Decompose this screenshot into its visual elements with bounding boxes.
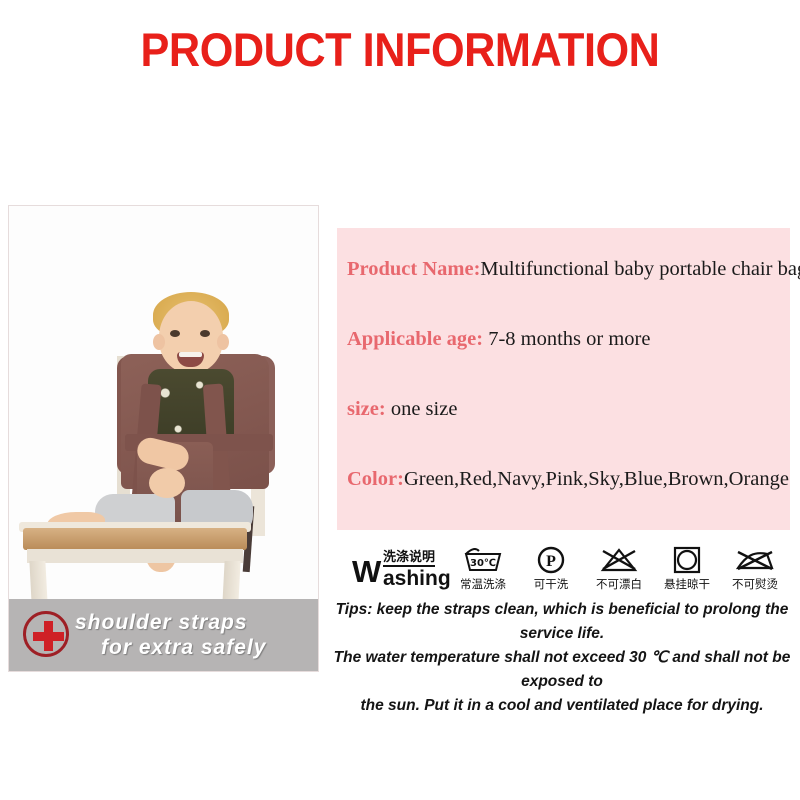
spec-value-applicable-age: 7-8 months or more bbox=[483, 328, 650, 350]
photo-caption-text: shoulder straps for extra safely bbox=[75, 610, 313, 660]
spec-row-applicable-age: Applicable age: 7-8 months or more bbox=[347, 327, 790, 351]
washing-logo-chinese: 洗涤说明 bbox=[383, 550, 435, 567]
spec-value-product-name: Multifunctional baby portable chair bag bbox=[480, 258, 800, 280]
photo-caption-line1: shoulder straps bbox=[75, 611, 248, 634]
baby-ear-left bbox=[153, 334, 165, 350]
tips-line-3: the sun. Put it in a cool and ventilated… bbox=[326, 694, 798, 718]
spec-label-size: size: bbox=[347, 398, 386, 420]
baby-eye-right bbox=[200, 330, 210, 337]
care-tips: Tips: keep the straps clean, which is be… bbox=[326, 598, 798, 718]
hang-dry-icon bbox=[654, 546, 720, 574]
chair-apron bbox=[27, 549, 243, 563]
baby-eye-left bbox=[170, 330, 180, 337]
cross-horizontal-bar bbox=[33, 632, 64, 641]
tips-line-1: Tips: keep the straps clean, which is be… bbox=[326, 598, 798, 646]
spec-value-color: Green,Red,Navy,Pink,Sky,Blue,Brown,Orang… bbox=[404, 468, 789, 490]
washing-logo-rest: ashing bbox=[383, 568, 451, 590]
care-caption-hang-dry: 悬挂晾干 bbox=[654, 576, 720, 592]
baby-ear-right bbox=[217, 334, 229, 350]
care-caption-wash-30c: 常温洗涤 bbox=[450, 576, 516, 592]
photo-caption-line2: for extra safely bbox=[75, 635, 313, 660]
baby-teeth bbox=[179, 352, 202, 357]
svg-text:P: P bbox=[546, 553, 556, 570]
tips-line-2: The water temperature shall not exceed 3… bbox=[326, 646, 798, 694]
care-symbol-do-not-iron: 不可熨烫 bbox=[722, 546, 788, 592]
spec-row-size: size: one size bbox=[347, 397, 790, 421]
care-symbol-do-not-bleach: 不可漂白 bbox=[586, 546, 652, 592]
dry-clean-p-icon: P bbox=[518, 546, 584, 574]
photo-scene bbox=[9, 206, 318, 626]
washing-care-row: W 洗涤说明 ashing 30℃ 常温洗涤 P 可干洗 bbox=[352, 546, 798, 592]
product-photo: shoulder straps for extra safely bbox=[8, 205, 319, 672]
care-symbol-wash-30c: 30℃ 常温洗涤 bbox=[450, 546, 516, 592]
washing-logo: W 洗涤说明 ashing bbox=[352, 548, 444, 590]
chair-seat bbox=[23, 528, 247, 550]
care-symbol-hang-dry: 悬挂晾干 bbox=[654, 546, 720, 592]
spec-row-color: Color:Green,Red,Navy,Pink,Sky,Blue,Brown… bbox=[347, 467, 790, 491]
wash-tub-30c-icon: 30℃ bbox=[450, 546, 516, 574]
do-not-iron-icon bbox=[722, 546, 788, 574]
product-information-page: PRODUCT INFORMATION bbox=[0, 0, 800, 800]
spec-row-product-name: Product Name:Multifunctional baby portab… bbox=[347, 257, 790, 281]
care-caption-do-not-iron: 不可熨烫 bbox=[722, 576, 788, 592]
care-symbol-dry-clean: P 可干洗 bbox=[518, 546, 584, 592]
spec-label-color: Color: bbox=[347, 468, 404, 490]
washing-logo-w: W bbox=[352, 556, 381, 587]
care-caption-dry-clean: 可干洗 bbox=[518, 576, 584, 592]
specification-panel: Product Name:Multifunctional baby portab… bbox=[337, 228, 790, 530]
baby-hand bbox=[149, 468, 185, 498]
page-title: PRODUCT INFORMATION bbox=[32, 22, 768, 77]
spec-label-applicable-age: Applicable age: bbox=[347, 328, 483, 350]
spec-label-product-name: Product Name: bbox=[347, 258, 480, 280]
spec-value-size: one size bbox=[386, 398, 458, 420]
red-cross-icon bbox=[23, 611, 69, 657]
photo-caption-banner: shoulder straps for extra safely bbox=[9, 599, 318, 671]
do-not-bleach-icon bbox=[586, 546, 652, 574]
svg-text:30℃: 30℃ bbox=[470, 558, 496, 569]
care-caption-do-not-bleach: 不可漂白 bbox=[586, 576, 652, 592]
